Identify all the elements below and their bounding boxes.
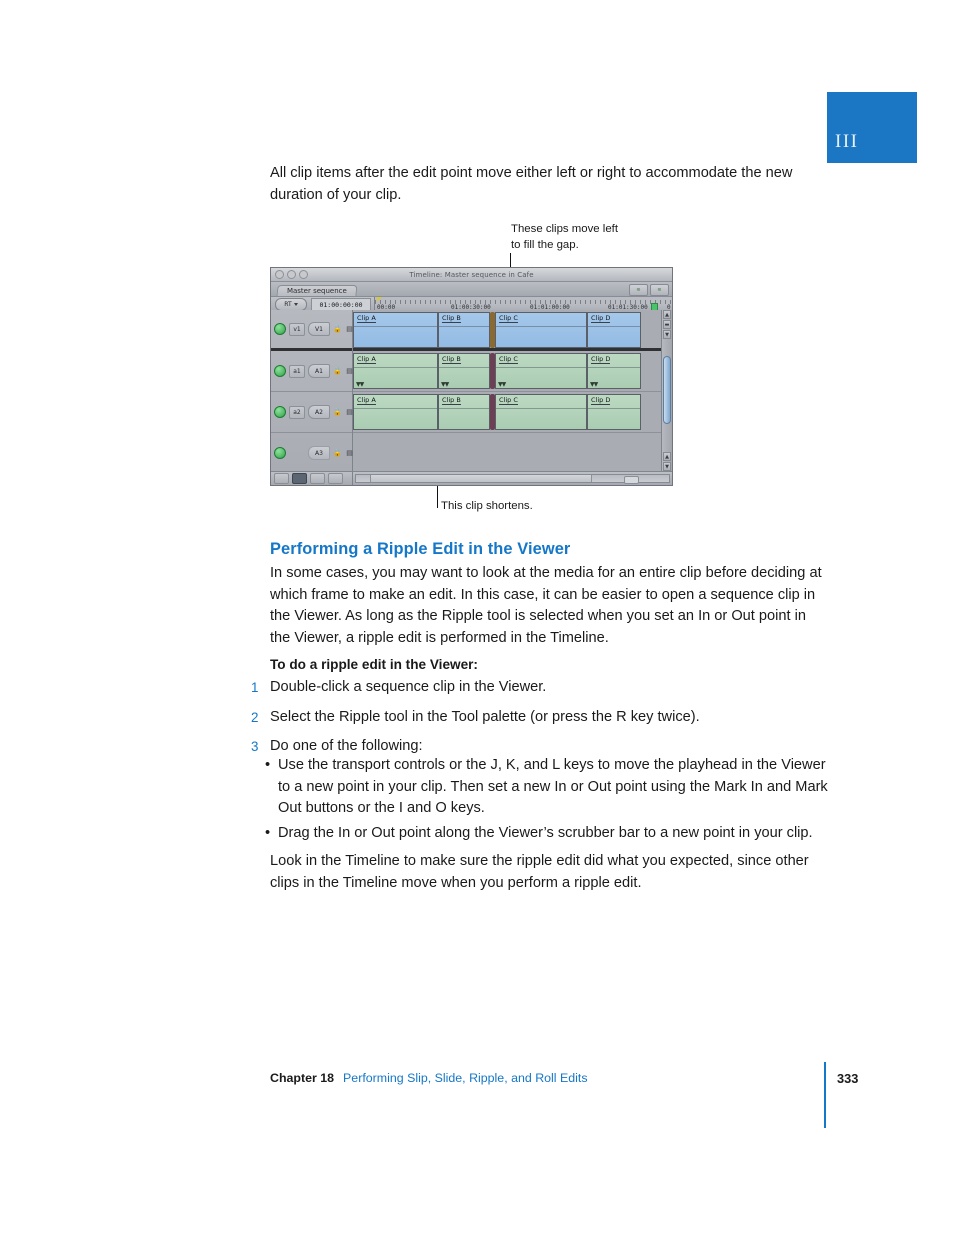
clip-label: Clip C [499, 396, 518, 405]
timeline-clip-canvas[interactable]: Clip A Clip B Clip C Clip D [353, 310, 672, 471]
procedure-lead-in: To do a ripple edit in the Viewer: [270, 657, 478, 672]
clip-item[interactable]: Clip B ▼▼ [438, 353, 490, 389]
clip-label: Clip C [499, 314, 518, 323]
horizontal-scrollbar[interactable] [355, 474, 670, 483]
lock-icon[interactable]: 🔒 [333, 324, 342, 334]
clip-divider [354, 326, 437, 327]
scroll-page-up-icon[interactable]: ▲ [663, 452, 671, 461]
clip-label: Clip B [442, 314, 461, 323]
clip-label: Clip D [591, 355, 610, 364]
track-header-a1[interactable]: a1 A1 🔒 ▤ [271, 351, 352, 392]
intro-paragraph: All clip items after the edit point move… [270, 163, 815, 206]
track-audio-enable-icon[interactable] [274, 447, 286, 459]
track-header-a1-name[interactable]: A1 [308, 364, 330, 378]
clip-divider [588, 408, 640, 409]
track-header-a3[interactable]: A3 🔒 ▤ [271, 433, 352, 474]
closing-paragraph: Look in the Timeline to make sure the ri… [270, 851, 826, 894]
clip-item[interactable]: Clip D [587, 312, 641, 348]
procedure-steps: 1 Double-click a sequence clip in the Vi… [251, 677, 831, 766]
clip-item[interactable]: Clip C [495, 312, 587, 348]
bullet-marker: • [265, 823, 278, 845]
clip-divider [354, 408, 437, 409]
scroll-up-icon[interactable]: ▲ [663, 310, 671, 319]
part-tab-numeral: III [835, 132, 858, 151]
list-item: 1 Double-click a sequence clip in the Vi… [251, 677, 831, 699]
clip-label: Clip A [357, 396, 376, 405]
page-number: 333 [837, 1071, 858, 1086]
track-header-a3-name[interactable]: A3 [308, 446, 330, 460]
clip-divider [588, 326, 640, 327]
clip-item[interactable]: Clip A [353, 312, 438, 348]
list-item: 2 Select the Ripple tool in the Tool pal… [251, 707, 831, 729]
clip-divider [439, 326, 489, 327]
clip-divider [496, 408, 586, 409]
track-height-large-icon[interactable]: ▼ [663, 330, 671, 339]
sequence-tabbar: Master sequence ≋ ≋ [271, 282, 672, 297]
clip-divider [439, 408, 489, 409]
chevron-down-icon [294, 303, 298, 306]
vertical-scroll-thumb[interactable] [663, 356, 671, 424]
linked-selection-icon[interactable] [292, 473, 307, 484]
step-text: Double-click a sequence clip in the View… [270, 677, 546, 699]
clip-label: Clip D [591, 396, 610, 405]
bullet-text: Use the transport controls or the J, K, … [278, 755, 835, 820]
step-number: 2 [251, 707, 270, 729]
playhead-icon[interactable] [377, 297, 382, 302]
clip-keyframes-toggle-icon[interactable] [310, 473, 325, 484]
step-number: 1 [251, 677, 270, 699]
timeline-track-a3[interactable] [353, 433, 672, 471]
clip-divider [588, 367, 640, 368]
clip-item[interactable]: Clip B [438, 312, 490, 348]
clip-label: Clip B [442, 396, 461, 405]
lock-icon[interactable]: 🔒 [333, 407, 342, 417]
bullet-marker: • [265, 755, 278, 820]
clip-label: Clip B [442, 355, 461, 364]
window-title: Timeline: Master sequence in Cafe [271, 271, 672, 279]
timeline-track-a1[interactable]: Clip A ▼▼ Clip B ▼▼ Clip C ▼▼ [353, 351, 672, 392]
timeline-track-v1[interactable]: Clip A Clip B Clip C Clip D [353, 310, 672, 351]
section-paragraph: In some cases, you may want to look at t… [270, 563, 826, 649]
waveform-icon: ▼▼ [590, 382, 597, 387]
track-header-a2[interactable]: a2 A2 🔒 ▤ [271, 392, 352, 433]
footer-rule [824, 1062, 826, 1128]
timeline-track-area: v1 V1 🔒 ▤ a1 A1 🔒 ▤ a2 A2 🔒 ▤ [271, 310, 672, 471]
page-footer: Chapter 18 Performing Slip, Slide, Rippl… [270, 1071, 588, 1085]
list-item: • Drag the In or Out point along the Vie… [265, 823, 835, 845]
clip-label: Clip D [591, 314, 610, 323]
timeline-view-buttons: ≋ ≋ [629, 284, 669, 296]
callout-bottom-label: This clip shortens. [441, 498, 533, 514]
waveform-icon: ▼▼ [356, 382, 363, 387]
track-height-small-icon[interactable]: ▬ [663, 320, 671, 329]
clip-keyframes-icon[interactable]: ≋ [629, 284, 648, 296]
vertical-scrollbar[interactable]: ▲ ▬ ▼ ▲ ▼ [661, 310, 672, 471]
clip-label: Clip C [499, 355, 518, 364]
list-item: • Use the transport controls or the J, K… [265, 755, 835, 820]
clip-item[interactable]: Clip A [353, 394, 438, 430]
part-tab: III [827, 92, 917, 163]
clip-label: Clip A [357, 314, 376, 323]
track-header-a2-name[interactable]: A2 [308, 405, 330, 419]
rt-popup-label: RT [284, 301, 291, 308]
clip-item[interactable]: Clip B [438, 394, 490, 430]
track-visibility-icon[interactable] [274, 323, 286, 335]
timeline-window-screenshot: Timeline: Master sequence in Cafe Master… [270, 267, 673, 486]
document-page: III All clip items after the edit point … [0, 0, 954, 1235]
clip-divider [354, 367, 437, 368]
clip-item[interactable]: Clip D [587, 394, 641, 430]
tab-master-sequence[interactable]: Master sequence [276, 285, 357, 296]
clip-divider [439, 367, 489, 368]
lock-icon[interactable]: 🔒 [333, 366, 342, 376]
track-audio-enable-icon[interactable] [274, 406, 286, 418]
clip-divider [496, 326, 586, 327]
track-header-column: v1 V1 🔒 ▤ a1 A1 🔒 ▤ a2 A2 🔒 ▤ [271, 310, 353, 471]
bullet-text: Drag the In or Out point along the Viewe… [278, 823, 813, 845]
track-header-v1[interactable]: v1 V1 🔒 ▤ [271, 310, 352, 351]
footer-title[interactable]: Performing Slip, Slide, Ripple, and Roll… [343, 1071, 588, 1085]
waveform-icon: ▼▼ [498, 382, 505, 387]
section-heading: Performing a Ripple Edit in the Viewer [270, 540, 570, 559]
track-header-a2-number[interactable]: a2 [289, 406, 305, 419]
zoom-grip-icon[interactable] [624, 476, 639, 484]
window-titlebar: Timeline: Master sequence in Cafe [271, 268, 672, 282]
track-header-v1-name[interactable]: V1 [308, 322, 330, 336]
footer-chapter: Chapter 18 [270, 1071, 334, 1085]
tab-master-sequence-label: Master sequence [287, 287, 347, 295]
clip-item[interactable]: Clip D ▼▼ [587, 353, 641, 389]
clip-item[interactable]: Clip C [495, 394, 587, 430]
callout-top-label: These clips move left to fill the gap. [511, 221, 618, 253]
timeline-tool-cluster [271, 472, 353, 485]
lock-icon[interactable]: 🔒 [333, 448, 342, 458]
track-header-v1-number[interactable]: v1 [289, 323, 305, 336]
horizontal-scroll-thumb[interactable] [370, 475, 592, 482]
clip-item[interactable]: Clip A ▼▼ [353, 353, 438, 389]
track-audio-enable-icon[interactable] [274, 365, 286, 377]
clip-item[interactable]: Clip C ▼▼ [495, 353, 587, 389]
snapping-icon[interactable] [274, 473, 289, 484]
waveform-icon: ▼▼ [441, 382, 448, 387]
track-header-a1-number[interactable]: a1 [289, 365, 305, 378]
procedure-bullets: • Use the transport controls or the J, K… [265, 755, 835, 847]
step-text: Select the Ripple tool in the Tool palet… [270, 707, 700, 729]
clip-label: Clip A [357, 355, 376, 364]
scroll-down-icon[interactable]: ▼ [663, 462, 671, 471]
timeline-bottom-toolbar [271, 471, 672, 485]
clip-divider [496, 367, 586, 368]
clip-overlays-icon[interactable]: ≋ [650, 284, 669, 296]
timeline-track-a2[interactable]: Clip A Clip B Clip C Clip D [353, 392, 672, 433]
track-height-icon[interactable] [328, 473, 343, 484]
